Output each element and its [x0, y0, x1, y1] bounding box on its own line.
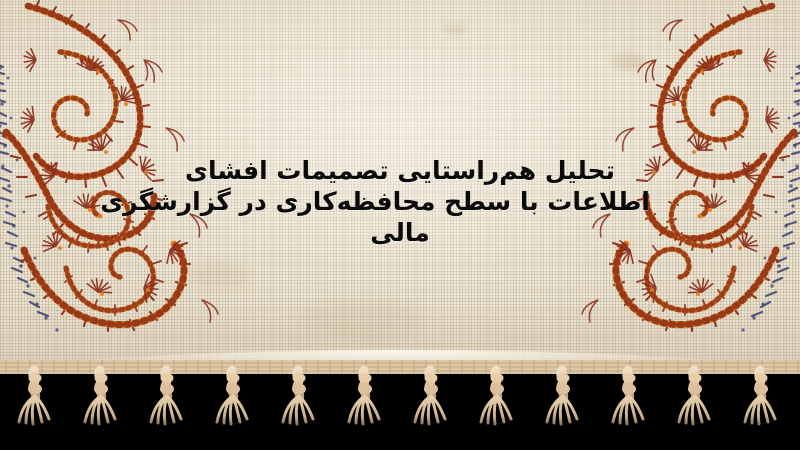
slide-title: تحلیل هم‌راستایی تصمیمات افشای اطلاعات ب… [150, 155, 650, 248]
title-line-2: اطلاعات با سطح محافظه‌کاری در گزارشگری [150, 186, 650, 217]
cloth-stain [300, 300, 420, 340]
slide-canvas: تحلیل هم‌راستایی تصمیمات افشای اطلاعات ب… [0, 0, 800, 450]
title-line-1: تحلیل هم‌راستایی تصمیمات افشای [150, 155, 650, 186]
cloth-stain [444, 24, 466, 35]
cloth-hem [0, 350, 800, 374]
cloth-stain [190, 262, 250, 288]
title-line-3: مالی [150, 217, 650, 248]
cloth-stain [612, 54, 646, 70]
